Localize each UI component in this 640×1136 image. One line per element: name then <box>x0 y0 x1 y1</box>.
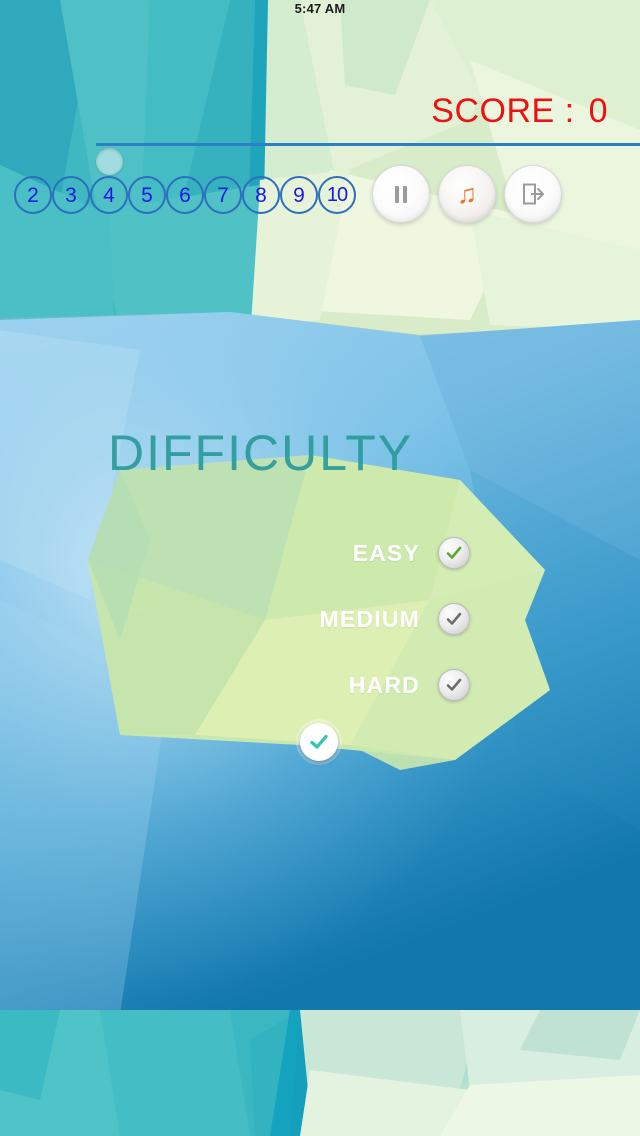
status-bar: 5:47 AM <box>0 0 640 20</box>
difficulty-title: DIFFICULTY <box>108 424 413 482</box>
slider-knob[interactable] <box>96 148 123 175</box>
score-display: SCORE :0 <box>431 92 608 131</box>
check-icon <box>444 543 464 563</box>
number-button-row: 2 3 4 5 6 7 8 9 10 <box>14 175 356 215</box>
game-screen: 5:47 AM SCORE :0 2 3 4 5 6 7 8 9 10 ♫ <box>0 0 640 1136</box>
pause-icon <box>395 186 407 203</box>
score-label: SCORE : <box>431 92 574 130</box>
number-button-3[interactable]: 3 <box>52 176 90 214</box>
check-icon <box>308 731 330 753</box>
difficulty-checkbox-easy[interactable] <box>438 537 470 569</box>
difficulty-option-medium[interactable]: MEDIUM <box>200 586 470 652</box>
check-icon <box>444 609 464 629</box>
difficulty-options-list: EASY MEDIUM HARD <box>200 520 470 718</box>
number-button-5[interactable]: 5 <box>128 176 166 214</box>
number-button-2[interactable]: 2 <box>14 176 52 214</box>
difficulty-label-easy: EASY <box>353 540 420 567</box>
difficulty-option-easy[interactable]: EASY <box>200 520 470 586</box>
exit-icon <box>520 181 546 207</box>
status-bar-time: 5:47 AM <box>0 1 640 16</box>
music-button[interactable]: ♫ <box>438 165 496 223</box>
number-button-9[interactable]: 9 <box>280 176 318 214</box>
difficulty-checkbox-hard[interactable] <box>438 669 470 701</box>
number-button-8[interactable]: 8 <box>242 176 280 214</box>
exit-button[interactable] <box>504 165 562 223</box>
slider-track[interactable] <box>96 143 640 146</box>
score-value: 0 <box>589 92 608 130</box>
difficulty-option-hard[interactable]: HARD <box>200 652 470 718</box>
difficulty-label-medium: MEDIUM <box>320 606 420 633</box>
pause-button[interactable] <box>372 165 430 223</box>
number-button-4[interactable]: 4 <box>90 176 128 214</box>
control-button-row: ♫ <box>372 165 570 223</box>
confirm-button[interactable] <box>300 723 338 761</box>
difficulty-checkbox-medium[interactable] <box>438 603 470 635</box>
number-button-6[interactable]: 6 <box>166 176 204 214</box>
number-button-10[interactable]: 10 <box>318 176 356 214</box>
music-note-icon: ♫ <box>457 181 477 208</box>
check-icon <box>444 675 464 695</box>
difficulty-label-hard: HARD <box>349 672 420 699</box>
number-button-7[interactable]: 7 <box>204 176 242 214</box>
